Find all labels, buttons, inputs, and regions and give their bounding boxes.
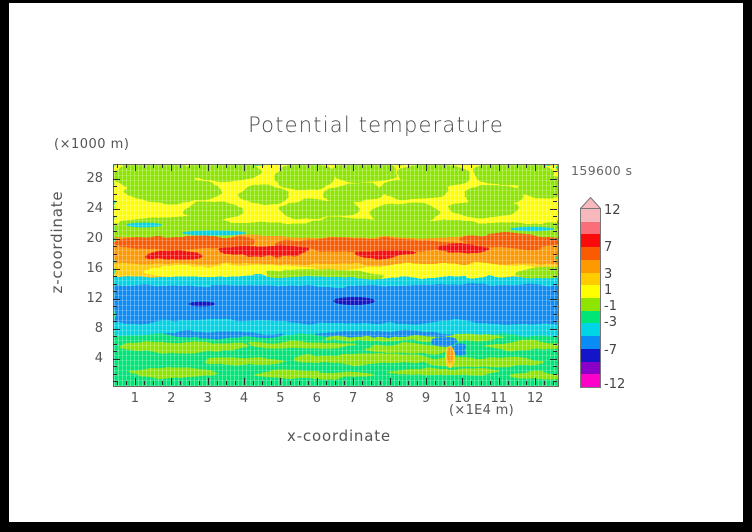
y-tick-minor: [113, 201, 117, 202]
x-tick-minor: [162, 164, 163, 168]
x-tick-minor: [189, 381, 190, 385]
x-tick-minor: [308, 164, 309, 168]
x-tick-minor: [299, 381, 300, 385]
y-tick-minor: [113, 216, 117, 217]
y-tick-minor: [553, 351, 557, 352]
y-tick-label: 8: [73, 321, 103, 336]
y-tick-minor: [113, 186, 117, 187]
x-tick-minor: [408, 381, 409, 385]
x-tick-minor: [481, 164, 482, 168]
x-tick-major: [280, 164, 281, 171]
x-tick-minor: [153, 164, 154, 168]
x-tick-major: [171, 378, 172, 385]
x-tick-major: [135, 164, 136, 171]
x-tick-major: [244, 164, 245, 171]
y-tick-minor: [113, 276, 117, 277]
x-tick-minor: [226, 381, 227, 385]
y-tick-minor: [113, 344, 117, 345]
x-tick-minor: [417, 381, 418, 385]
x-tick-minor: [217, 381, 218, 385]
y-tick-minor: [113, 284, 117, 285]
x-tick-minor: [526, 164, 527, 168]
x-tick-label: 6: [302, 391, 332, 406]
y-tick-minor: [113, 291, 117, 292]
x-tick-minor: [508, 164, 509, 168]
x-tick-minor: [199, 381, 200, 385]
y-tick-major: [113, 299, 120, 300]
x-tick-minor: [189, 164, 190, 168]
x-tick-major: [317, 378, 318, 385]
y-tick-minor: [553, 254, 557, 255]
y-tick-minor: [113, 306, 117, 307]
x-tick-major: [353, 378, 354, 385]
colorbar-band: [581, 247, 600, 260]
y-tick-minor: [553, 321, 557, 322]
colorbar-band: [581, 285, 600, 298]
y-tick-major: [113, 179, 120, 180]
x-axis-unit: (×1E4 m): [449, 403, 514, 418]
y-tick-minor: [553, 201, 557, 202]
y-tick-major: [550, 179, 557, 180]
y-tick-minor: [113, 224, 117, 225]
x-tick-major: [171, 164, 172, 171]
y-tick-minor: [553, 381, 557, 382]
y-tick-minor: [553, 246, 557, 247]
y-tick-minor: [113, 254, 117, 255]
cyan-filament-mid: [126, 223, 162, 228]
colorbar-band: [581, 323, 600, 336]
x-tick-minor: [362, 381, 363, 385]
colorbar-band: [581, 311, 600, 324]
plot-area: [113, 164, 559, 387]
x-tick-minor: [380, 381, 381, 385]
y-tick-minor: [553, 231, 557, 232]
x-tick-minor: [271, 164, 272, 168]
y-tick-minor: [553, 194, 557, 195]
x-tick-minor: [235, 381, 236, 385]
x-tick-major: [426, 378, 427, 385]
colorbar-tick-label: -3: [604, 315, 617, 330]
x-tick-minor: [262, 164, 263, 168]
x-tick-minor: [153, 381, 154, 385]
x-tick-minor: [435, 164, 436, 168]
colorbar-band: [581, 336, 600, 349]
colorbar-band: [581, 209, 600, 222]
y-tick-minor: [113, 381, 117, 382]
x-tick-major: [390, 378, 391, 385]
y-tick-major: [550, 269, 557, 270]
colorbar-band: [581, 222, 600, 235]
heatmap-field: [114, 165, 558, 386]
x-tick-minor: [126, 164, 127, 168]
colorbar: [580, 208, 601, 388]
x-tick-major: [244, 378, 245, 385]
y-tick-minor: [113, 171, 117, 172]
x-tick-minor: [344, 164, 345, 168]
y-tick-minor: [553, 344, 557, 345]
x-tick-major: [535, 164, 536, 171]
x-tick-label: 7: [338, 391, 368, 406]
colorbar-band: [581, 298, 600, 311]
x-tick-major: [317, 164, 318, 171]
y-tick-minor: [113, 261, 117, 262]
y-tick-label: 20: [73, 231, 103, 246]
x-tick-major: [208, 378, 209, 385]
colorbar-tick-label: 12: [604, 203, 621, 218]
y-tick-minor: [553, 224, 557, 225]
y-tick-major: [113, 359, 120, 360]
y-tick-minor: [553, 276, 557, 277]
x-tick-major: [499, 164, 500, 171]
x-tick-minor: [417, 164, 418, 168]
y-tick-minor: [553, 171, 557, 172]
x-tick-major: [135, 378, 136, 385]
x-tick-minor: [217, 164, 218, 168]
x-tick-minor: [362, 164, 363, 168]
x-tick-minor: [453, 164, 454, 168]
colorbar-tick-label: -12: [604, 377, 625, 392]
warm-plume-lower: [445, 346, 455, 368]
x-tick-minor: [326, 381, 327, 385]
y-tick-minor: [553, 336, 557, 337]
x-tick-minor: [180, 381, 181, 385]
y-tick-label: 4: [73, 351, 103, 366]
x-tick-label: 5: [265, 391, 295, 406]
cold-sliver-left: [189, 302, 215, 307]
x-tick-minor: [335, 381, 336, 385]
y-tick-major: [113, 329, 120, 330]
x-tick-minor: [344, 381, 345, 385]
x-tick-label: 3: [193, 391, 223, 406]
colorbar-tick-label: -7: [604, 343, 617, 358]
y-axis-label: z-coordinate: [48, 167, 66, 317]
x-tick-minor: [162, 381, 163, 385]
x-tick-minor: [399, 164, 400, 168]
x-tick-minor: [471, 381, 472, 385]
x-tick-minor: [544, 381, 545, 385]
x-tick-minor: [444, 164, 445, 168]
x-tick-label: 8: [375, 391, 405, 406]
y-tick-major: [113, 209, 120, 210]
y-tick-major: [113, 239, 120, 240]
x-tick-major: [208, 164, 209, 171]
y-tick-minor: [113, 351, 117, 352]
x-tick-minor: [453, 381, 454, 385]
x-tick-minor: [235, 164, 236, 168]
x-tick-minor: [526, 381, 527, 385]
x-tick-minor: [380, 164, 381, 168]
x-tick-minor: [117, 164, 118, 168]
y-tick-minor: [113, 321, 117, 322]
cyan-filament-right: [510, 227, 554, 231]
colorbar-tick-label: 1: [604, 283, 612, 298]
y-tick-minor: [553, 374, 557, 375]
colorbar-time-label: 159600 s: [571, 163, 632, 178]
y-tick-major: [113, 269, 120, 270]
x-tick-minor: [471, 164, 472, 168]
x-tick-minor: [435, 381, 436, 385]
x-tick-label: 4: [229, 391, 259, 406]
x-tick-minor: [335, 164, 336, 168]
y-tick-minor: [113, 194, 117, 195]
x-tick-minor: [144, 164, 145, 168]
colorbar-tick-label: -1: [604, 299, 617, 314]
y-tick-minor: [553, 291, 557, 292]
colorbar-band: [581, 260, 600, 273]
y-tick-label: 28: [73, 171, 103, 186]
y-tick-minor: [553, 284, 557, 285]
x-tick-minor: [290, 381, 291, 385]
figure-canvas: Potential temperature (×1000 m): [9, 3, 743, 522]
x-tick-minor: [308, 381, 309, 385]
x-tick-minor: [399, 381, 400, 385]
y-tick-minor: [553, 306, 557, 307]
x-tick-major: [462, 164, 463, 171]
x-tick-minor: [553, 164, 554, 168]
x-tick-minor: [490, 164, 491, 168]
y-tick-major: [550, 239, 557, 240]
x-tick-minor: [253, 164, 254, 168]
x-tick-minor: [371, 381, 372, 385]
x-tick-minor: [517, 164, 518, 168]
x-tick-major: [353, 164, 354, 171]
y-tick-minor: [553, 186, 557, 187]
x-tick-minor: [253, 381, 254, 385]
x-tick-label: 1: [120, 391, 150, 406]
y-tick-label: 24: [73, 201, 103, 216]
x-tick-minor: [508, 381, 509, 385]
y-axis-unit: (×1000 m): [54, 137, 129, 152]
x-tick-minor: [408, 164, 409, 168]
y-tick-minor: [113, 314, 117, 315]
x-tick-minor: [517, 381, 518, 385]
x-tick-minor: [271, 381, 272, 385]
colorbar-band: [581, 374, 600, 387]
colorbar-band: [581, 234, 600, 247]
x-tick-minor: [226, 164, 227, 168]
x-tick-minor: [126, 381, 127, 385]
y-tick-minor: [113, 246, 117, 247]
x-tick-minor: [490, 381, 491, 385]
colorbar-band: [581, 362, 600, 375]
x-tick-label: 2: [156, 391, 186, 406]
colorbar-tick-label: 7: [604, 240, 612, 255]
x-tick-major: [499, 378, 500, 385]
x-tick-minor: [444, 381, 445, 385]
chart-title: Potential temperature: [9, 113, 743, 137]
x-tick-label: 12: [520, 391, 550, 406]
colorbar-band: [581, 273, 600, 286]
x-tick-minor: [481, 381, 482, 385]
y-tick-minor: [113, 374, 117, 375]
x-tick-minor: [180, 164, 181, 168]
y-tick-minor: [553, 366, 557, 367]
y-tick-label: 12: [73, 291, 103, 306]
x-tick-major: [535, 378, 536, 385]
x-tick-minor: [544, 164, 545, 168]
x-tick-major: [426, 164, 427, 171]
x-tick-minor: [290, 164, 291, 168]
cold-blob-center: [333, 297, 375, 305]
y-tick-minor: [553, 216, 557, 217]
x-tick-major: [390, 164, 391, 171]
y-tick-minor: [553, 314, 557, 315]
y-tick-major: [550, 329, 557, 330]
x-tick-minor: [371, 164, 372, 168]
x-tick-minor: [326, 164, 327, 168]
cyan-filament-upper: [182, 230, 246, 235]
x-tick-minor: [262, 381, 263, 385]
y-tick-major: [550, 359, 557, 360]
y-tick-major: [550, 299, 557, 300]
x-tick-minor: [144, 381, 145, 385]
x-axis-label: x-coordinate: [189, 427, 489, 445]
x-tick-major: [280, 378, 281, 385]
colorbar-tick-label: 3: [604, 267, 612, 282]
y-tick-minor: [113, 366, 117, 367]
x-tick-minor: [199, 164, 200, 168]
y-tick-label: 16: [73, 261, 103, 276]
x-tick-label: 9: [411, 391, 441, 406]
x-tick-minor: [299, 164, 300, 168]
y-tick-minor: [113, 336, 117, 337]
x-tick-major: [462, 378, 463, 385]
y-tick-minor: [113, 231, 117, 232]
y-tick-minor: [553, 261, 557, 262]
colorbar-band: [581, 349, 600, 362]
y-tick-major: [550, 209, 557, 210]
